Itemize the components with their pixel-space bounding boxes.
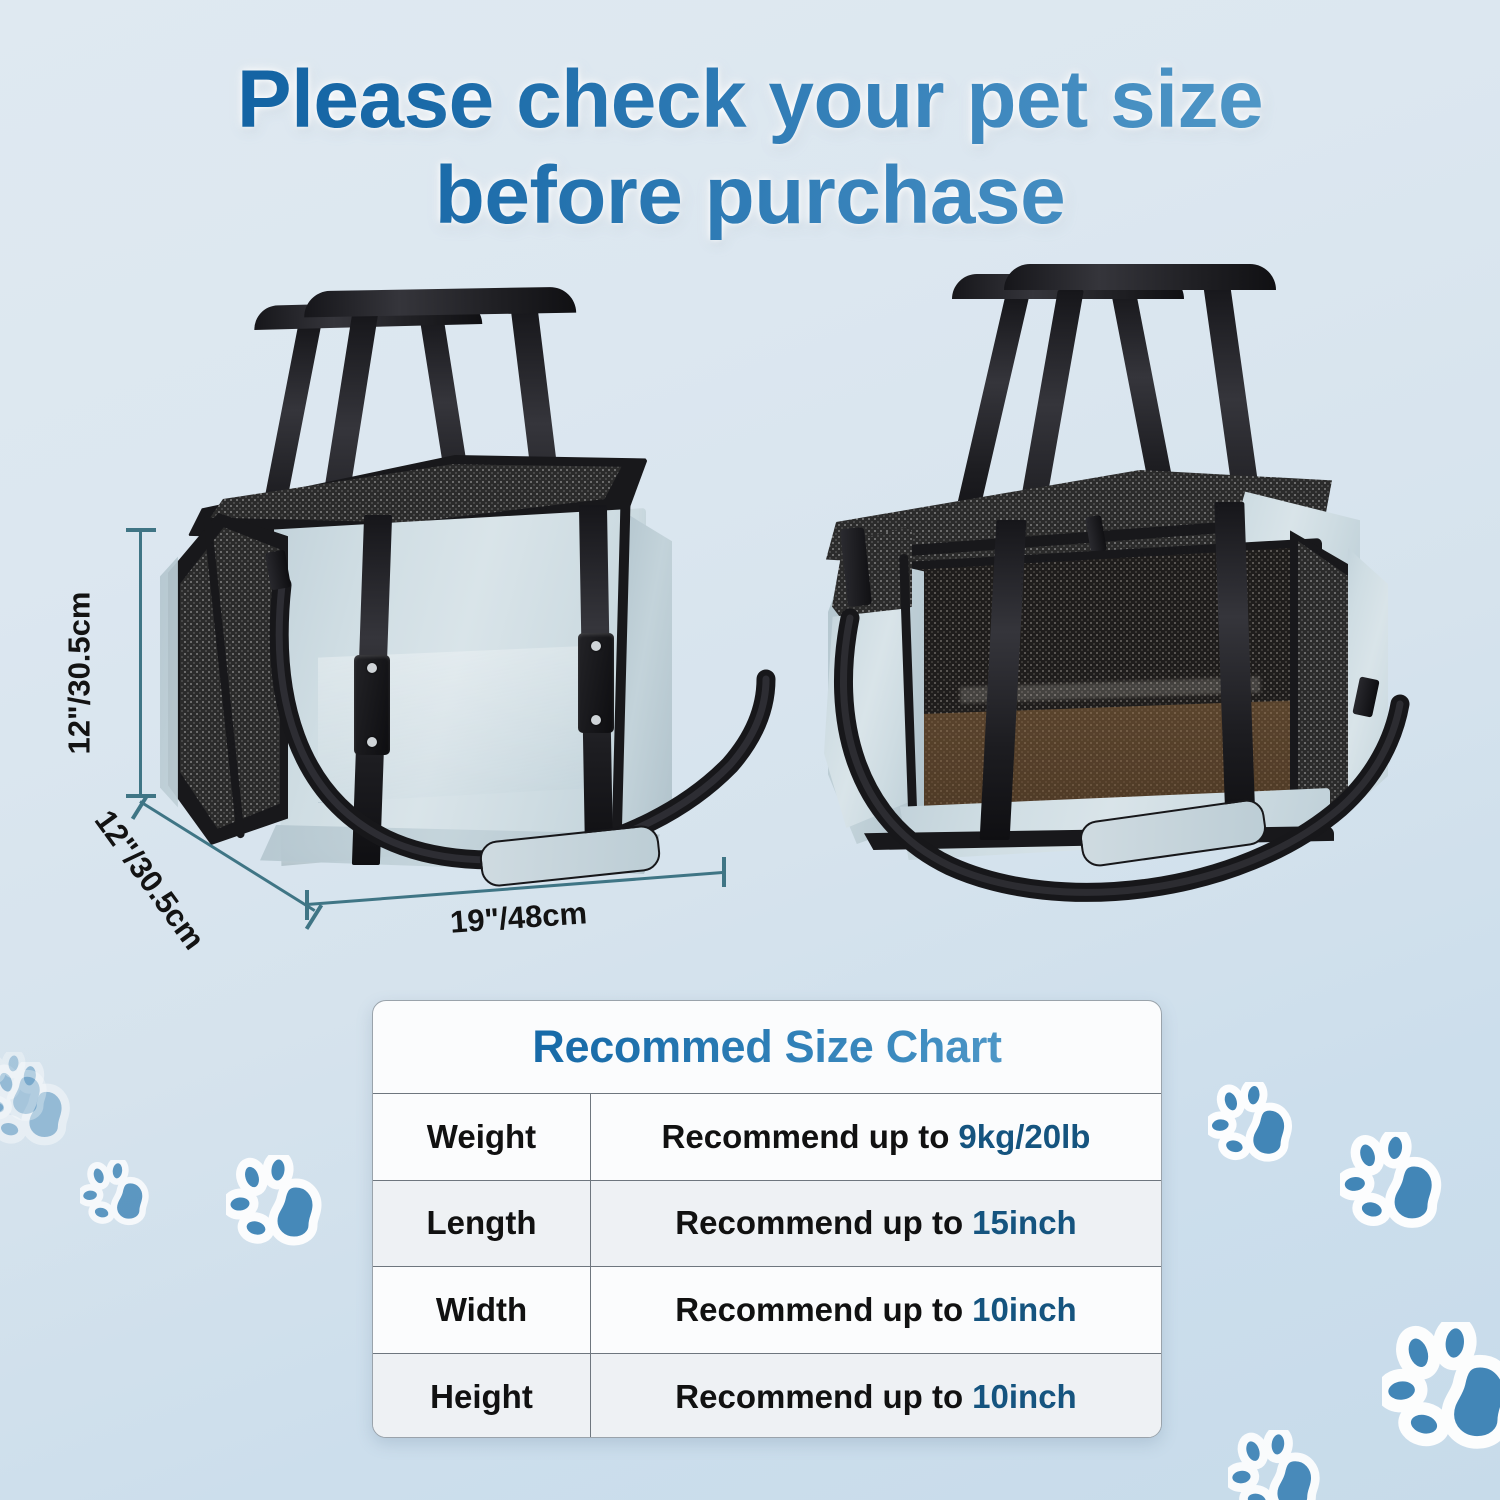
size-chart-title: Recommed Size Chart [373,1001,1161,1093]
size-chart-value-highlight: 15inch [972,1204,1077,1242]
paw-print-icon [1340,1132,1446,1238]
size-chart-value-prefix: Recommend up to [662,1118,950,1156]
size-chart-value: Recommend up to 10inch [591,1354,1161,1439]
size-chart-key: Height [373,1354,591,1439]
size-chart-key: Length [373,1181,591,1267]
size-chart-card: Recommed Size Chart Weight Recommend up … [372,1000,1162,1438]
pet-carrier-left-view [150,265,770,895]
size-chart-value-prefix: Recommend up to [675,1378,963,1416]
pet-carrier-right-view [800,248,1440,888]
table-row: Weight Recommend up to 9kg/20lb [373,1094,1161,1181]
page-title: Please check your pet size before purcha… [0,52,1500,244]
size-chart-value: Recommend up to 15inch [591,1181,1161,1267]
table-row: Length Recommend up to 15inch [373,1181,1161,1268]
size-chart-value-prefix: Recommend up to [675,1291,963,1329]
size-chart-key: Weight [373,1094,591,1180]
paw-print-icon [80,1160,152,1232]
paw-print-icon [1208,1082,1296,1170]
table-row: Width Recommend up to 10inch [373,1267,1161,1354]
paw-print-icon [0,1052,50,1128]
size-chart-value-highlight: 10inch [972,1291,1077,1329]
paw-print-icon [226,1155,326,1255]
size-chart-value: Recommend up to 9kg/20lb [591,1094,1161,1180]
paw-print-icon [1228,1430,1324,1500]
dimension-width-label: 19"/48cm [449,895,588,940]
dimension-height-label: 12"/30.5cm [61,592,97,755]
size-chart-value: Recommend up to 10inch [591,1267,1161,1353]
size-chart-body: Weight Recommend up to 9kg/20lb Length R… [373,1093,1161,1438]
size-chart-value-prefix: Recommend up to [675,1204,963,1242]
size-chart-value-highlight: 9kg/20lb [958,1118,1090,1156]
size-chart-key: Width [373,1267,591,1353]
infographic-canvas: Please check your pet size before purcha… [0,0,1500,1500]
table-row: Height Recommend up to 10inch [373,1354,1161,1439]
carrier-shoulder-strap [210,465,770,885]
paw-print-icon [1382,1322,1500,1462]
size-chart-value-highlight: 10inch [972,1378,1077,1416]
